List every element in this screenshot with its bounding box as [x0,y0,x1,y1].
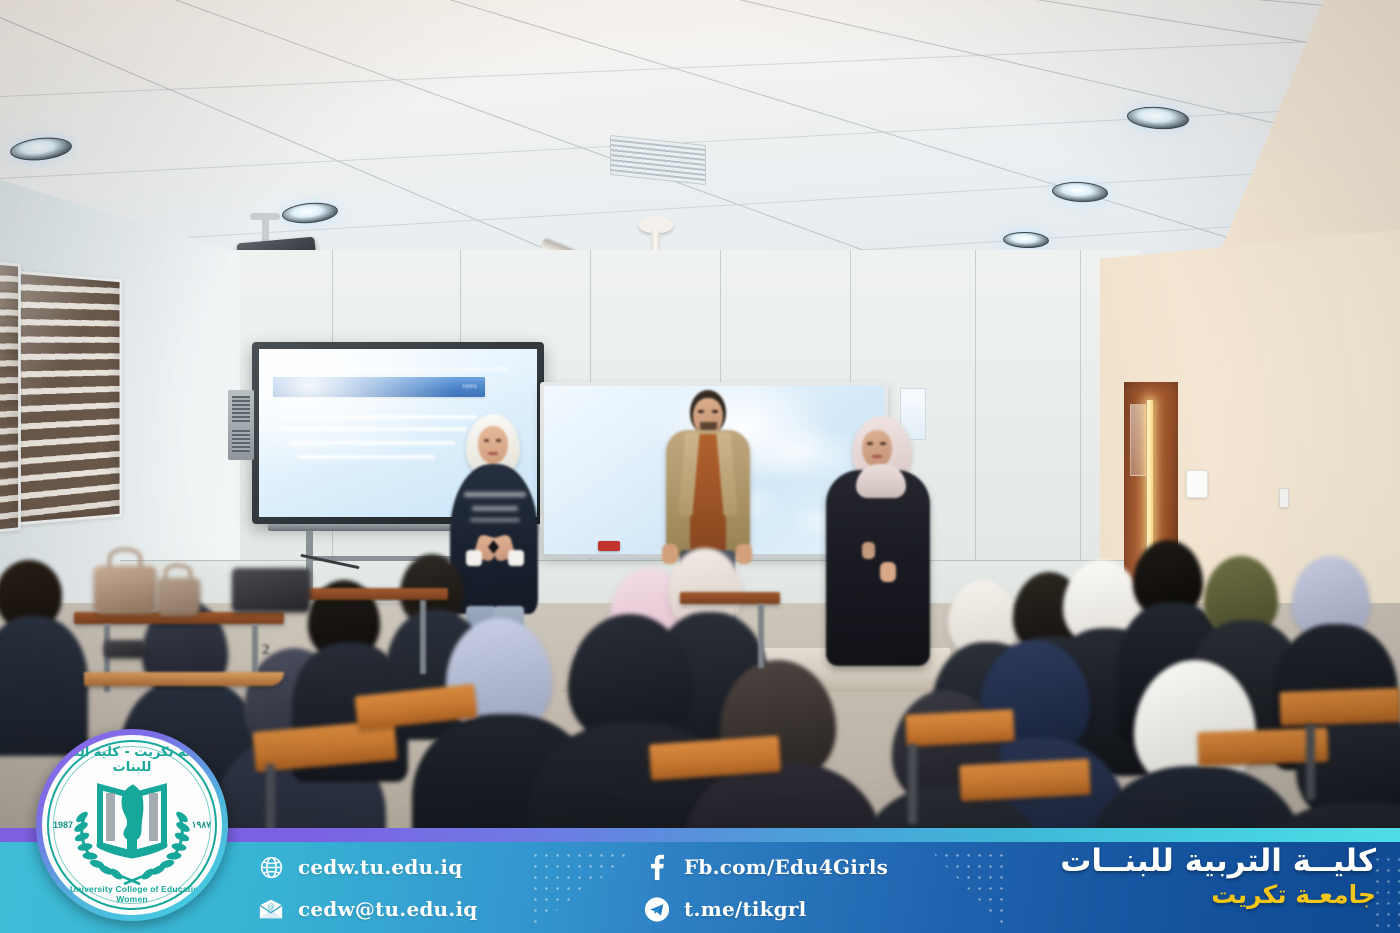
facebook-label: Fb.com/Edu4Girls [684,855,888,879]
window-blinds [0,260,21,534]
arabic-branding: كليــة التربية للبنــات جامعـة تكريت [1060,844,1376,910]
handbag [94,566,156,614]
college-logo: جامعة تكريت - كلية التربية للبنات Tikrit… [36,729,228,921]
light-switch [1279,488,1289,508]
handbag [156,578,200,616]
telegram-label: t.me/tikgrl [684,897,806,921]
whiteboard-marker-holder [598,541,620,551]
ceiling-downlight [281,201,339,226]
chair-frame [908,744,917,824]
desk-leg [420,600,426,674]
face [478,426,508,464]
desk-leg [758,604,764,668]
projector-mount-arm [262,217,269,243]
globe-icon [258,854,284,880]
ceiling-downlight [1003,231,1050,249]
email-icon: @ [258,896,284,922]
contact-website[interactable]: cedw.tu.edu.iq [258,854,462,880]
email-label: cedw@tu.edu.iq [298,897,477,921]
svg-text:@: @ [267,902,274,911]
ceiling-downlight [1052,181,1109,204]
face [862,430,892,468]
audience-member [0,560,82,750]
contact-facebook[interactable]: Fb.com/Edu4Girls [644,854,888,880]
handbag-handle [164,564,192,580]
abaya [826,470,930,666]
handbag-handle [108,548,142,568]
college-name-arabic: كليــة التربية للبنــات [1060,844,1376,878]
website-label: cedw.tu.edu.iq [298,855,462,879]
telegram-icon [644,896,670,922]
ceiling-downlight [9,135,73,163]
wall-intercom [1186,470,1208,498]
contact-email[interactable]: @ cedw@tu.edu.iq [258,896,477,922]
presenter-woman-abaya [826,416,930,666]
chair-frame [1306,724,1315,800]
student-desk [84,672,284,686]
contact-telegram[interactable]: t.me/tikgrl [644,896,806,922]
facebook-icon [644,854,670,880]
screenshot-root: Tools [0,0,1400,933]
projector-mount-plate [250,213,280,220]
university-name-arabic: جامعـة تكريت [1060,881,1376,910]
pencil-case [104,640,146,658]
student-desk [680,592,780,604]
chair-back [1279,688,1400,726]
chair-back [905,709,1015,747]
dot-pattern [1372,854,1400,928]
desk-number-label: 2 [262,642,270,659]
chair-back [959,759,1091,802]
ceiling-downlight [1126,105,1189,131]
logo-emblem-art [42,735,222,915]
laptop-bag [232,568,310,612]
